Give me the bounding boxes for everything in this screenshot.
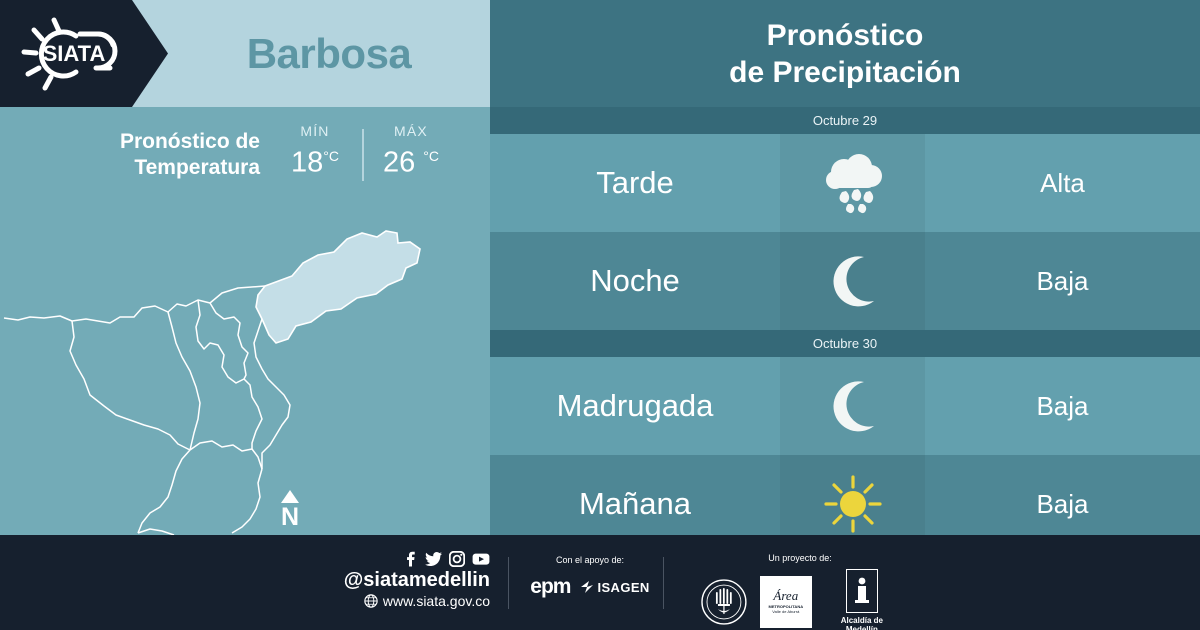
forecast-row-tarde[interactable]: Tarde <box>490 134 1200 232</box>
project-logos: Área METROPOLITANA Valle de Aburrá Alcal… <box>700 569 900 630</box>
alcaldia-mark-icon <box>846 569 878 613</box>
isagen-logo: ISAGEN <box>580 580 649 595</box>
website-url: www.siata.gov.co <box>383 592 490 610</box>
rain-cloud-icon <box>780 134 925 232</box>
forecast-time-tarde: Tarde <box>490 134 780 232</box>
amva-line2: Valle de Aburrá <box>772 609 799 614</box>
max-unit: °C <box>423 148 439 164</box>
moon-icon-svg <box>826 253 880 309</box>
forecast-row-madrugada[interactable]: Madrugada Baja <box>490 357 1200 455</box>
date-band-2: Octubre 30 <box>490 330 1200 357</box>
temperature-title-line1: Pronóstico de <box>60 129 260 155</box>
max-label: MÁX <box>394 123 428 139</box>
north-arrow-icon <box>281 490 299 503</box>
isagen-mark-icon <box>580 580 594 594</box>
footer: @siatamedellin www.siata.gov.co Con el a… <box>0 535 1200 630</box>
epm-logo: epm <box>530 575 570 599</box>
support-caption: Con el apoyo de: <box>510 555 670 565</box>
temperature-body: Pronóstico de Temperatura MÍN 18°C MÁX 2… <box>0 107 490 535</box>
precipitation-title-line1: Pronóstico <box>767 17 924 54</box>
rain-cloud-icon-svg <box>821 152 885 214</box>
siata-logo-icon: SIATA <box>14 14 154 94</box>
forecast-row-noche[interactable]: Noche Baja <box>490 232 1200 330</box>
social-handle[interactable]: @siatamedellin <box>300 569 490 592</box>
alcaldia-glyph-icon <box>852 575 872 607</box>
precipitation-title: Pronóstico de Precipitación <box>490 0 1200 107</box>
forecast-time-madrugada: Madrugada <box>490 357 780 455</box>
footer-divider-2 <box>663 557 664 609</box>
forecast-probability-noche: Baja <box>925 232 1200 330</box>
min-unit: °C <box>323 148 339 164</box>
facebook-icon[interactable] <box>403 551 418 567</box>
social-icons <box>300 551 490 567</box>
moon-icon <box>780 357 925 455</box>
north-label: N <box>273 504 307 530</box>
moon-icon-svg <box>826 378 880 434</box>
footer-support: Con el apoyo de: epm ISAGEN <box>510 555 670 599</box>
date-band-1: Octubre 29 <box>490 107 1200 134</box>
alcaldia-logo: Alcaldía de Medellín <box>824 569 900 630</box>
map-boundaries <box>4 286 290 535</box>
amva-word: Área <box>773 589 798 602</box>
weather-forecast-poster: SIATA Barbosa Pronóstico de Temperatura … <box>0 0 1200 630</box>
min-label: MÍN <box>300 123 329 139</box>
temperature-panel: SIATA Barbosa Pronóstico de Temperatura … <box>0 0 490 535</box>
siata-logo-badge: SIATA <box>0 0 168 107</box>
map-highlight-barbosa <box>256 231 420 343</box>
footer-project: Un proyecto de: <box>700 553 900 630</box>
instagram-icon[interactable] <box>449 551 465 567</box>
brand-header: SIATA Barbosa <box>0 0 490 107</box>
sun-icon-svg <box>822 473 884 535</box>
forecast-probability-madrugada: Baja <box>925 357 1200 455</box>
unal-seal-icon <box>700 578 748 626</box>
north-arrow: N <box>273 490 307 530</box>
city-title: Barbosa <box>168 0 490 107</box>
precipitation-panel: Pronóstico de Precipitación Octubre 29 T… <box>490 0 1200 535</box>
amva-logo: Área METROPOLITANA Valle de Aburrá <box>760 576 812 628</box>
project-caption: Un proyecto de: <box>700 553 900 563</box>
website-row[interactable]: www.siata.gov.co <box>300 592 490 610</box>
youtube-icon[interactable] <box>472 551 490 567</box>
isagen-text: ISAGEN <box>597 580 649 595</box>
moon-icon <box>780 232 925 330</box>
siata-logo-text: SIATA <box>43 41 106 66</box>
municipality-map: N <box>0 167 490 535</box>
precipitation-title-line2: de Precipitación <box>729 54 961 91</box>
map-svg <box>0 167 490 535</box>
forecast-time-noche: Noche <box>490 232 780 330</box>
alcaldia-label: Alcaldía de Medellín <box>824 616 900 630</box>
footer-divider-1 <box>508 557 509 609</box>
twitter-icon[interactable] <box>425 551 442 567</box>
support-logos: epm ISAGEN <box>510 575 670 599</box>
forecast-probability-tarde: Alta <box>925 134 1200 232</box>
forecast-list: Octubre 29 Tarde <box>490 107 1200 553</box>
globe-icon <box>364 594 378 608</box>
footer-social: @siatamedellin www.siata.gov.co <box>300 551 490 610</box>
